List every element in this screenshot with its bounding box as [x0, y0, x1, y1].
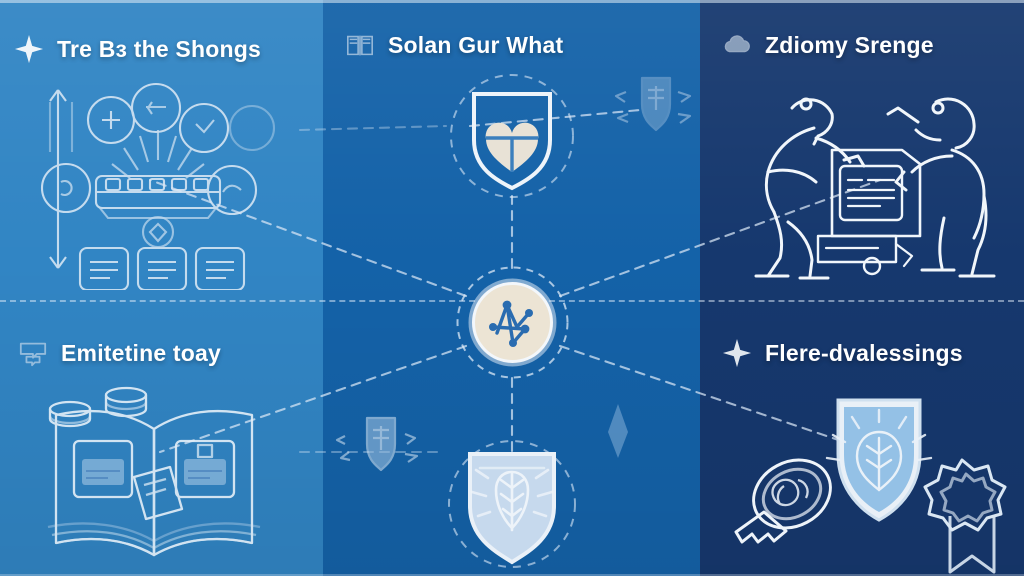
crest-key-badge-illustration: [726, 398, 1024, 576]
heading-bottom-left-label: Emitetine toay: [61, 340, 221, 367]
heading-top-right: Zdiomy Srenge: [722, 30, 934, 60]
heading-bottom-right-label: Flere-dvalessings: [765, 340, 963, 367]
book-open-icon: [345, 30, 375, 60]
heading-bottom-left: Emitetine toay: [18, 338, 221, 368]
cloud-icon: [722, 30, 752, 60]
sparkle-icon: [722, 338, 752, 368]
central-network-node[interactable]: [455, 265, 570, 380]
radiant-crest-shield-icon: [827, 400, 931, 520]
small-shield-badge[interactable]: [335, 408, 427, 484]
badge-outline-icon: [925, 460, 1005, 572]
small-shield-badge[interactable]: [612, 66, 700, 144]
infographic-canvas: Tre Bɜ the Shongs Solan Gur What Zdiomy …: [0, 0, 1024, 576]
spark-shard-icon: [596, 402, 640, 460]
two-people-at-machine-illustration: [748, 72, 1016, 292]
hub-disc: [474, 284, 552, 362]
heading-top-center: Solan Gur What: [345, 30, 563, 60]
chat-bubbles-icon: [18, 338, 48, 368]
heading-top-right-label: Zdiomy Srenge: [765, 32, 934, 59]
heart-shield-node[interactable]: [448, 72, 576, 200]
open-book-illustration: [22, 385, 287, 575]
icon-cluster-illustration: [28, 80, 288, 290]
connector-topleft-to-top: [300, 126, 446, 130]
frame-edge-top: [0, 0, 1024, 3]
ornate-key-icon: [736, 447, 842, 542]
emblem-shield-node[interactable]: [444, 438, 580, 576]
heading-top-left-label: Tre Bɜ the Shongs: [57, 36, 261, 63]
heading-top-left: Tre Bɜ the Shongs: [14, 34, 261, 64]
heading-bottom-right: Flere-dvalessings: [722, 338, 963, 368]
heading-top-center-label: Solan Gur What: [388, 32, 563, 59]
sparkle-icon: [14, 34, 44, 64]
